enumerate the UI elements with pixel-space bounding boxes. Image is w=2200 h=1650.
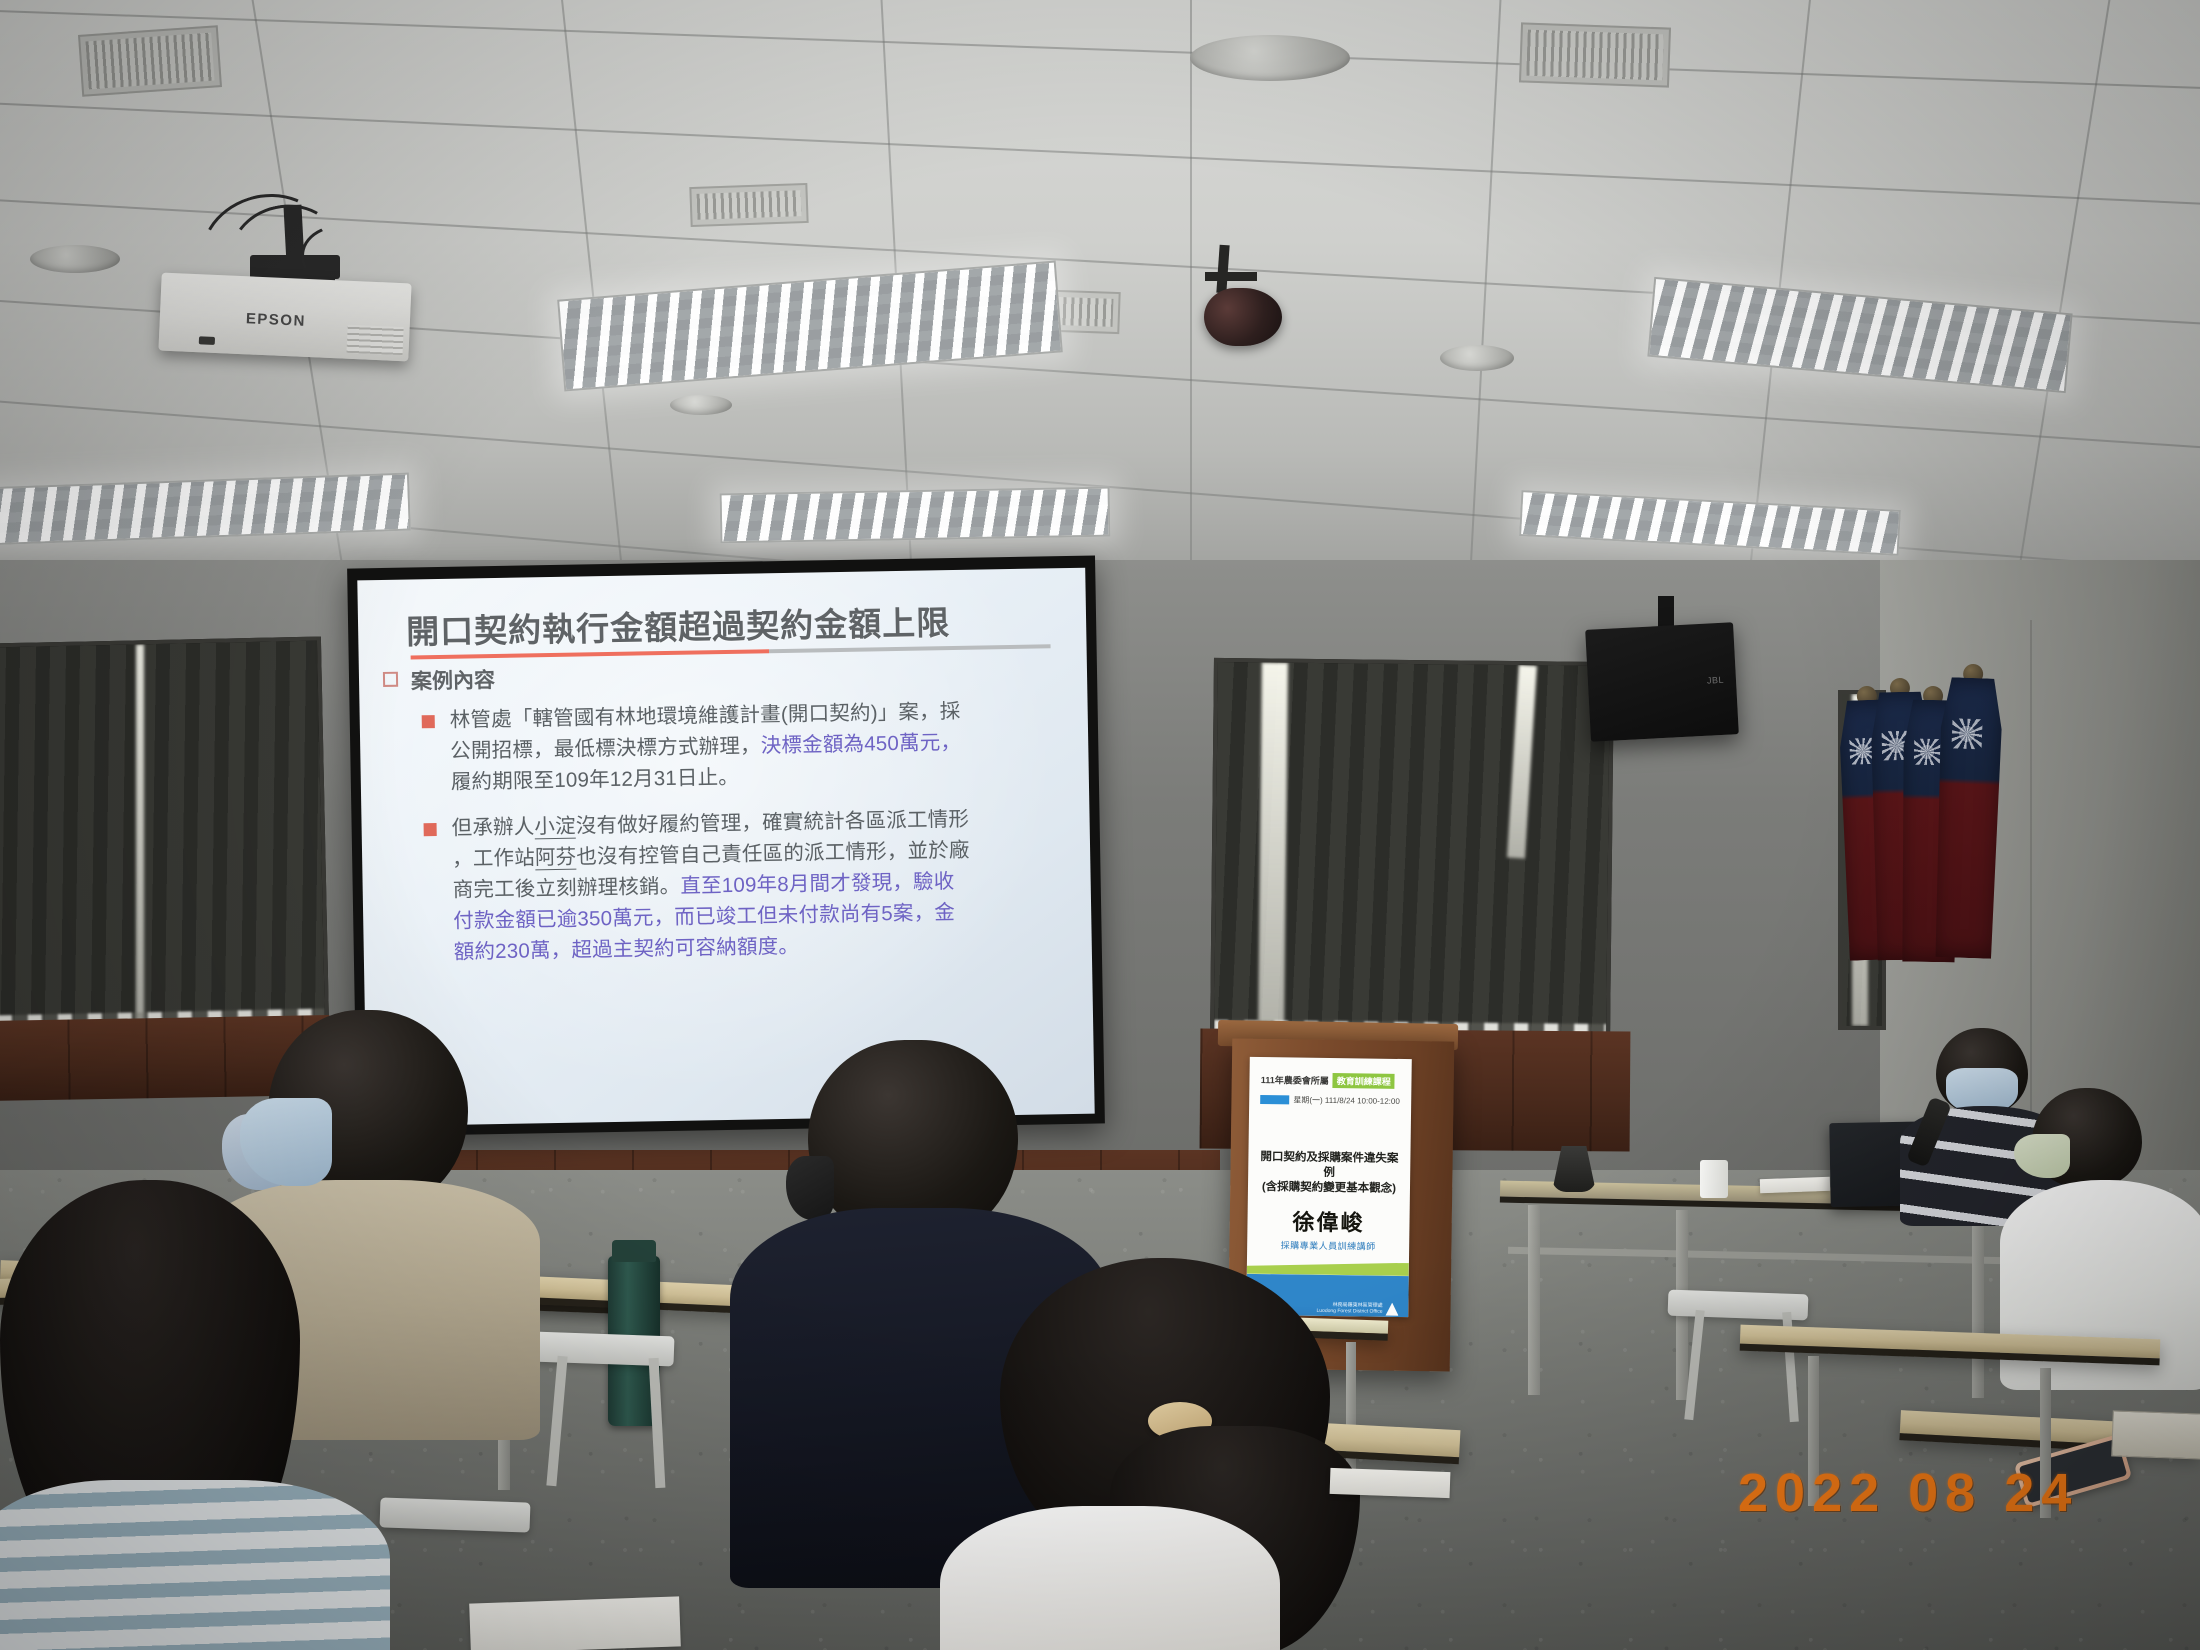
projector: EPSON	[158, 273, 411, 362]
paper-cup	[1700, 1160, 1728, 1198]
ceiling-smoke-detector	[30, 245, 120, 273]
poster-topic-line1: 開口契約及採購案件違失案例	[1256, 1150, 1402, 1182]
slide-title: 開口契約執行金額超過契約金額上限	[406, 596, 951, 653]
window-left	[0, 637, 329, 1034]
attendee-ponytail	[960, 1258, 1380, 1650]
attendee-striped-shirt	[0, 1180, 390, 1650]
vertical-blinds[interactable]	[0, 641, 325, 1030]
attendee-torso	[940, 1506, 1280, 1650]
slide-bullet-square-solid	[422, 715, 435, 728]
national-flag	[1930, 677, 2006, 959]
attendee-face-mask	[786, 1156, 834, 1220]
poster-header-highlight: 教育訓練課程	[1333, 1074, 1395, 1090]
desk-box	[2111, 1410, 2200, 1459]
ceiling-spotlight-icon	[1204, 288, 1282, 346]
poster-header-row: 111年農委會所屬 教育訓練課程	[1261, 1073, 1401, 1090]
lecture-room-photo: EPSON JBL	[0, 0, 2200, 1650]
handout-papers[interactable]	[469, 1596, 681, 1650]
projector-brand-label: EPSON	[246, 310, 307, 330]
spotlight-mount-arm	[1205, 272, 1257, 281]
slide-bullet-square-outline	[383, 672, 398, 687]
poster-speaker-name: 徐偉峻	[1247, 1204, 1409, 1238]
bullet2-name-2: 阿芬	[535, 846, 577, 871]
attendee-far-left	[240, 1080, 360, 1240]
poster-topic-line2: (含採購契約變更基本觀念)	[1256, 1180, 1402, 1197]
poster-date-row: 星期(一) 111/8/24 10:00-12:00	[1260, 1094, 1399, 1107]
slide-section-label: 案例內容	[411, 664, 496, 695]
desk-papers	[1760, 1177, 1830, 1193]
thermos-cap	[612, 1240, 656, 1262]
slide-bullet-1-text: 林管處「轄管國有林地環境維護計畫(開口契約)」案，採 公開招標，最低標決標方式辦…	[449, 694, 1051, 797]
table-leg	[1528, 1205, 1540, 1395]
ceiling-air-vent	[1519, 22, 1671, 87]
org-logo-mark-icon	[1385, 1303, 1398, 1316]
handout-papers[interactable]	[1330, 1468, 1451, 1498]
bullet2-name-1: 小淀	[534, 815, 576, 840]
ceiling-air-vent	[78, 25, 222, 97]
ceiling-air-vent	[689, 183, 808, 227]
poster-speaker-role: 採購專業人員訓練講師	[1247, 1237, 1409, 1252]
attendee-face-mask	[240, 1098, 332, 1186]
bullet1-line3: 履約期限至109年12月31日止。	[451, 766, 740, 794]
poster-header-plain: 111年農委會所屬	[1261, 1074, 1329, 1088]
attendee-face-mask	[2014, 1134, 2070, 1178]
window-right	[1210, 658, 1614, 1042]
bullet1-line1: 林管處「轄管國有林地環境維護計畫(開口契約)」案，採	[450, 700, 961, 732]
attendee-torso	[0, 1480, 390, 1650]
camera-timestamp: 2022 08 24	[1738, 1462, 2078, 1524]
chair[interactable]	[380, 1497, 531, 1532]
slide-bullet-2-text: 但承辦人小淀沒有做好履約管理，確實統計各區派工情形 ，工作站阿芬也沒有控管自己責…	[451, 802, 1054, 967]
ceiling-smoke-detector	[670, 395, 732, 415]
poster-date-line: 星期(一) 111/8/24 10:00-12:00	[1293, 1095, 1400, 1107]
ceiling-dome-speaker	[1190, 35, 1350, 81]
poster-topic: 開口契約及採購案件違失案例 (含採購契約變更基本觀念)	[1256, 1150, 1402, 1197]
slide-bullet-square-solid	[424, 823, 437, 836]
suspended-ceiling: EPSON	[0, 0, 2200, 600]
ceiling-light-fixture	[720, 487, 1111, 544]
speaker-brand-label: JBL	[1707, 674, 1725, 685]
wall-speaker: JBL	[1585, 622, 1739, 742]
table-leg	[1972, 1218, 1984, 1398]
ceiling-smoke-detector	[1440, 345, 1514, 371]
poster-blue-chip	[1260, 1095, 1289, 1104]
projector-vent-grille	[347, 325, 404, 355]
bullet1-highlight: 決標金額為450萬元	[761, 731, 941, 757]
